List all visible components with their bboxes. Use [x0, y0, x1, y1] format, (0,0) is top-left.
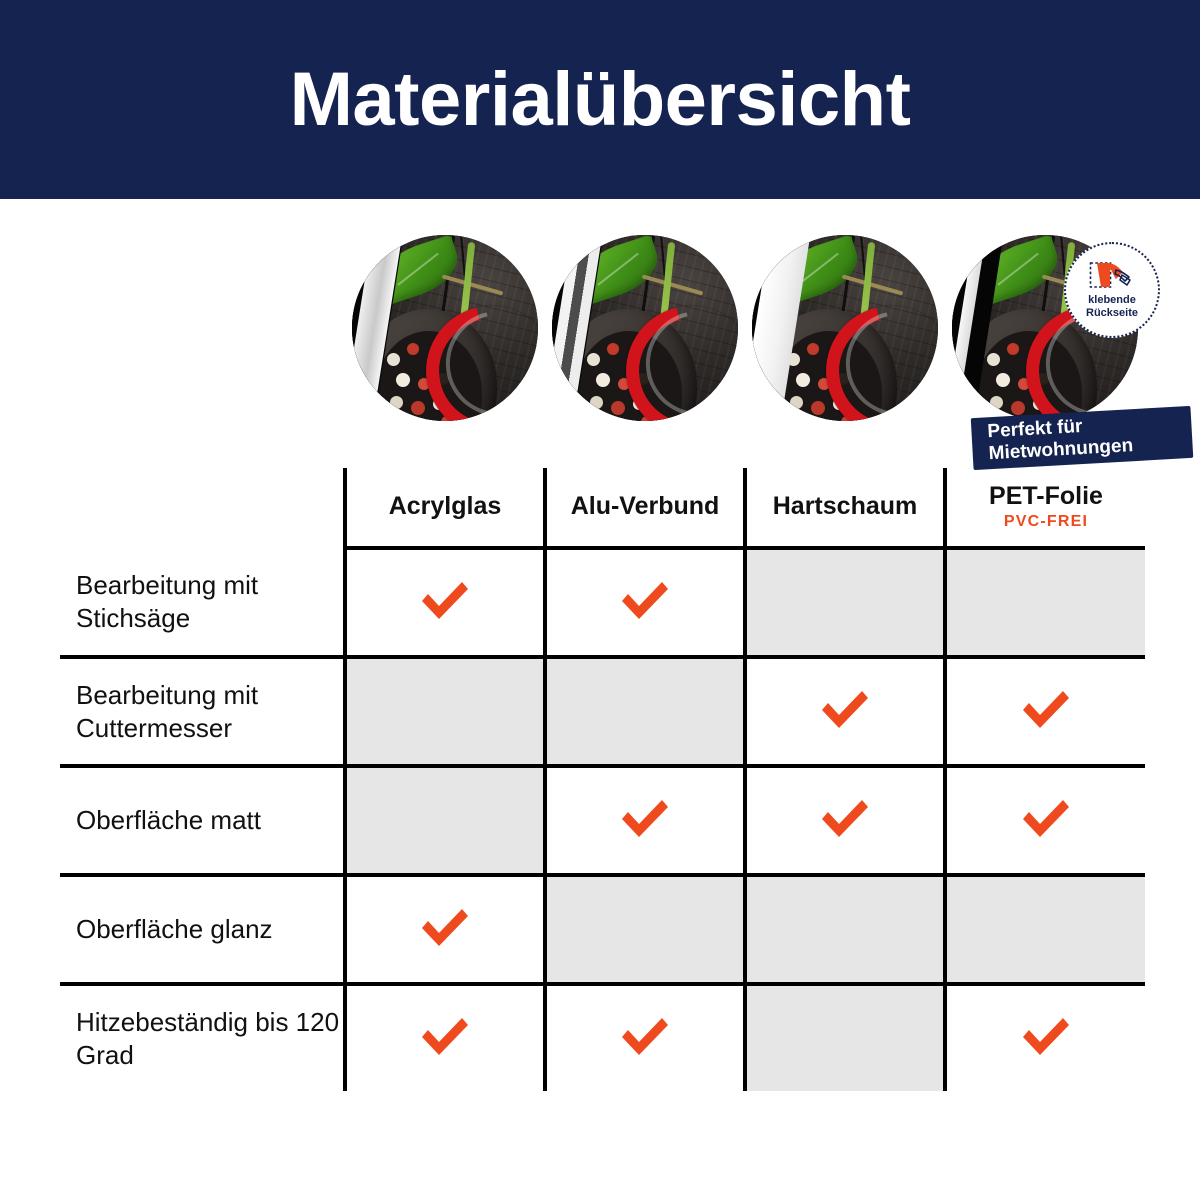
cell-supported: [945, 657, 1145, 766]
check-icon: [618, 1013, 672, 1059]
cell-not-supported: [345, 766, 545, 875]
cell-supported: [745, 766, 945, 875]
product-thumbnail-hartschaum[interactable]: [752, 235, 938, 421]
check-icon: [618, 577, 672, 623]
row-label: Bearbeitung mit Cuttermesser: [60, 657, 345, 766]
column-header-label: PET-Folie: [947, 483, 1145, 511]
table-body: Bearbeitung mit StichsägeBearbeitung mit…: [60, 548, 1145, 1091]
cell-supported: [945, 766, 1145, 875]
chili-pepper-photo: [552, 235, 738, 421]
cell-not-supported: [745, 548, 945, 657]
column-header-label: Acrylglas: [347, 493, 543, 521]
row-label: Bearbeitung mit Stichsäge: [60, 548, 345, 657]
check-icon: [418, 577, 472, 623]
cell-supported: [545, 548, 745, 657]
table-row: Oberfläche matt: [60, 766, 1145, 875]
cell-not-supported: [945, 875, 1145, 984]
column-header-badge-pvc-frei: PVC-FREI: [947, 513, 1145, 531]
table-row: Bearbeitung mit Cuttermesser: [60, 657, 1145, 766]
table-row: Bearbeitung mit Stichsäge: [60, 548, 1145, 657]
check-icon: [418, 1013, 472, 1059]
column-header-acrylglas: Acrylglas: [345, 468, 545, 548]
cell-supported: [545, 984, 745, 1091]
cell-supported: [745, 657, 945, 766]
cell-not-supported: [545, 657, 745, 766]
check-icon: [1019, 795, 1073, 841]
material-overview-page: Materialübersicht: [0, 0, 1200, 1200]
adhesive-backing-label-line1: klebende: [1088, 294, 1136, 306]
cell-supported: [545, 766, 745, 875]
adhesive-backing-icon: [1089, 261, 1135, 291]
row-label: Oberfläche matt: [60, 766, 345, 875]
table-row: Oberfläche glanz: [60, 875, 1145, 984]
column-header-hartschaum: Hartschaum: [745, 468, 945, 548]
cell-supported: [345, 984, 545, 1091]
cell-supported: [345, 875, 545, 984]
column-header-alu-verbund: Alu-Verbund: [545, 468, 745, 548]
check-icon: [818, 686, 872, 732]
cell-not-supported: [745, 875, 945, 984]
cell-not-supported: [345, 657, 545, 766]
product-thumbnail-acrylglas[interactable]: [352, 235, 538, 421]
column-header-pet-folie: PET-Folie PVC-FREI: [945, 468, 1145, 548]
row-label: Hitzebeständig bis 120 Grad: [60, 984, 345, 1091]
cell-not-supported: [545, 875, 745, 984]
check-icon: [818, 795, 872, 841]
product-thumbnail-alu-verbund[interactable]: [552, 235, 738, 421]
page-header: Materialübersicht: [0, 0, 1200, 199]
chili-pepper-photo: [752, 235, 938, 421]
cell-supported: [345, 548, 545, 657]
ribbon-body: Perfekt für Mietwohnungen: [971, 406, 1194, 470]
material-comparison-table: Acrylglas Alu-Verbund Hartschaum PET-Fol…: [60, 468, 1145, 1091]
check-icon: [1019, 1013, 1073, 1059]
table-header-row: Acrylglas Alu-Verbund Hartschaum PET-Fol…: [60, 468, 1145, 548]
chili-pepper-photo: [352, 235, 538, 421]
check-icon: [1019, 686, 1073, 732]
page-title: Materialübersicht: [290, 62, 911, 138]
cell-supported: [945, 984, 1145, 1091]
rental-ribbon: Perfekt für Mietwohnungen: [940, 408, 1200, 468]
row-label: Oberfläche glanz: [60, 875, 345, 984]
cell-not-supported: [945, 548, 1145, 657]
cell-not-supported: [745, 984, 945, 1091]
table-corner-cell: [60, 468, 345, 548]
check-icon: [618, 795, 672, 841]
column-header-label: Hartschaum: [747, 493, 943, 521]
column-header-label: Alu-Verbund: [547, 493, 743, 521]
adhesive-backing-label-line2: Rückseite: [1086, 307, 1138, 319]
adhesive-backing-badge: klebende Rückseite: [1064, 242, 1160, 338]
check-icon: [418, 904, 472, 950]
table-row: Hitzebeständig bis 120 Grad: [60, 984, 1145, 1091]
